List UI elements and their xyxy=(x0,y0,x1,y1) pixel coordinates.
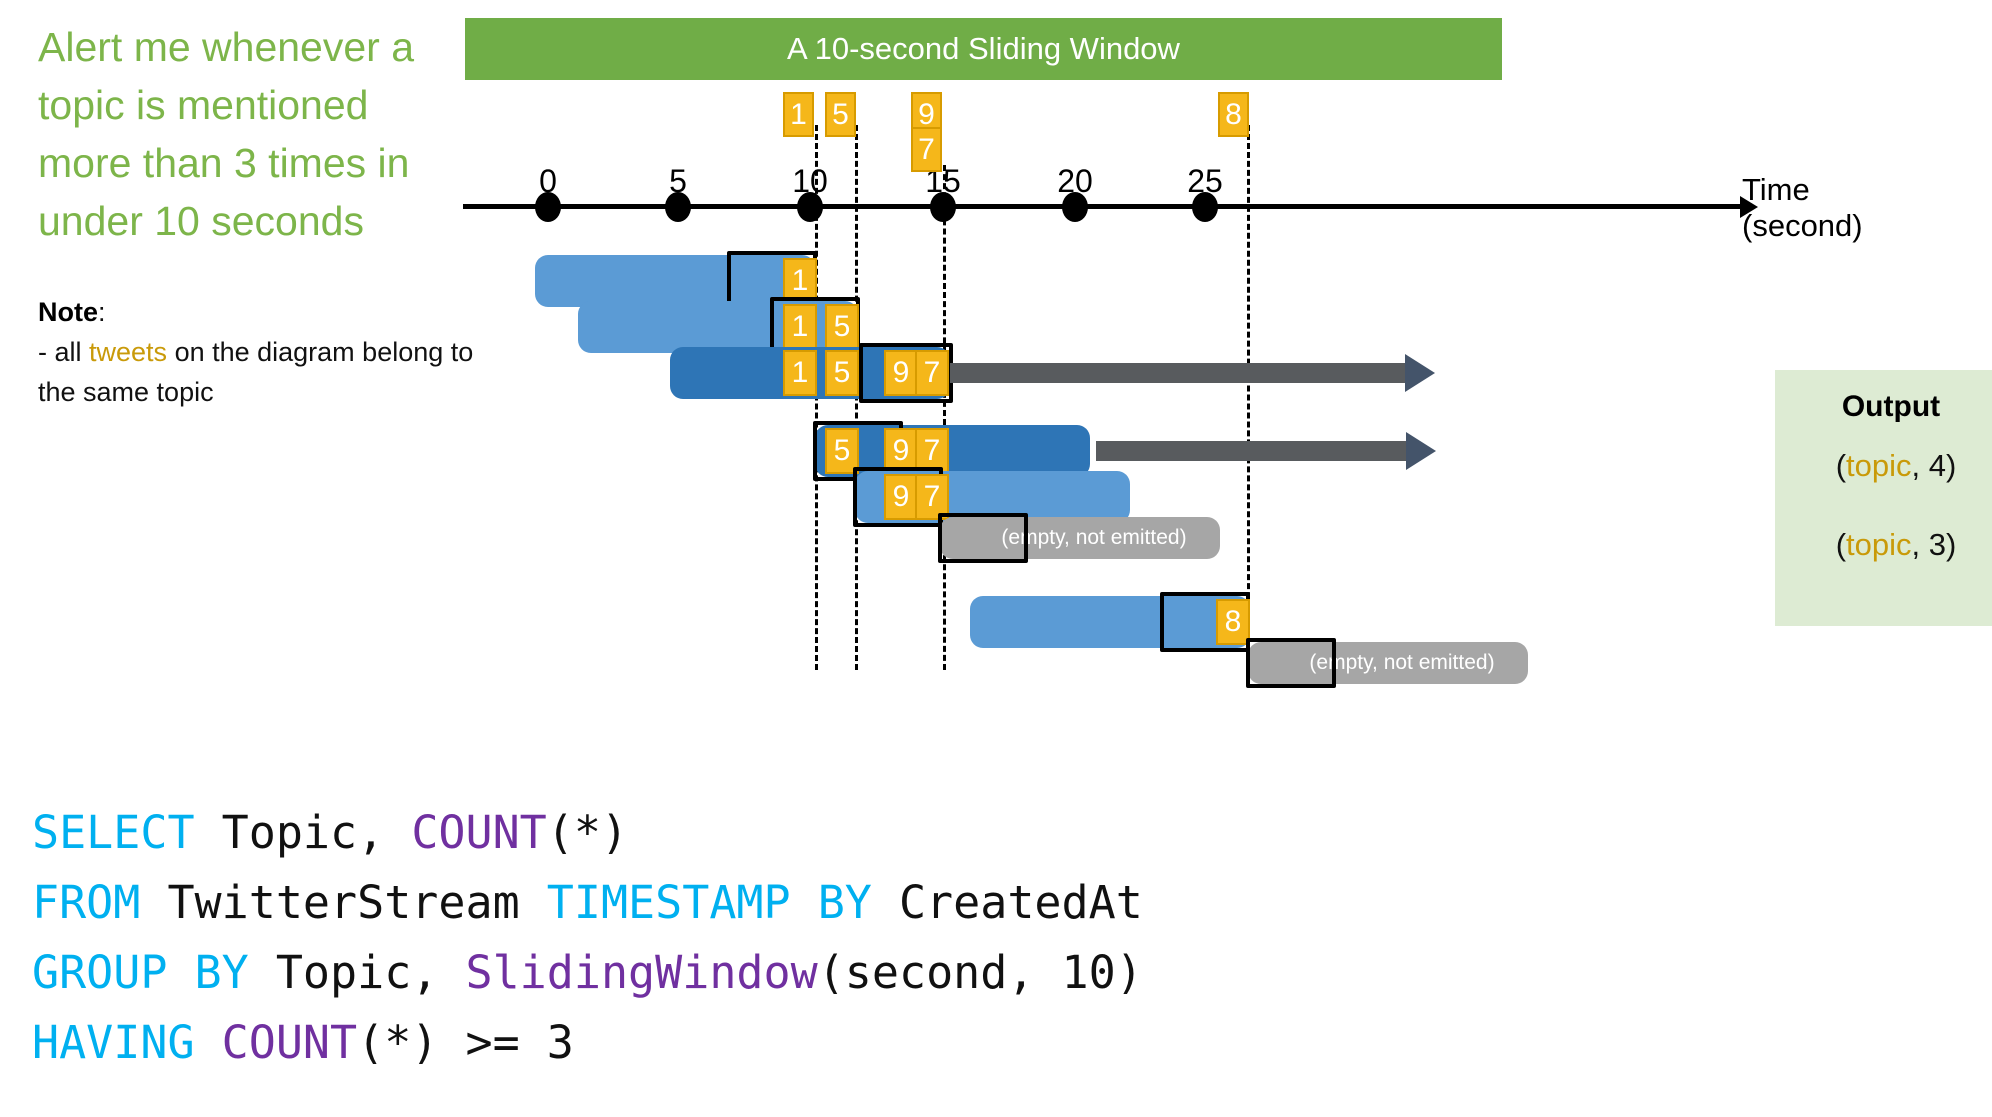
sql-line-4: HAVING COUNT(*) >= 3 xyxy=(32,1008,1392,1078)
window-3-tweet-5: 5 xyxy=(825,350,859,396)
axis-time-label: Time (second) xyxy=(1742,172,1863,244)
window-2-tweet-5: 5 xyxy=(825,304,859,350)
window-5-tweet-9: 9 xyxy=(884,474,918,520)
window-4-result-arrow-head-icon xyxy=(1406,432,1436,470)
sql-token: TIMESTAMP BY xyxy=(547,876,872,929)
sql-token: COUNT xyxy=(222,1016,357,1069)
window-3-tweet-7: 7 xyxy=(915,350,949,396)
note-heading: Note: xyxy=(38,292,478,332)
sql-token: Topic, xyxy=(249,946,466,999)
note-colon: : xyxy=(98,297,106,327)
tweet-badge-8: 8 xyxy=(1218,92,1249,137)
banner-title-text: A 10-second Sliding Window xyxy=(465,18,1502,80)
window-3-tweet-1: 1 xyxy=(783,350,817,396)
axis-unit-word: (second) xyxy=(1742,208,1863,244)
axis-tick-label: 10 xyxy=(775,163,845,200)
tweet-badge-7: 7 xyxy=(911,127,942,172)
sql-token xyxy=(195,1016,222,1069)
sql-line-3: GROUP BY Topic, SlidingWindow(second, 10… xyxy=(32,938,1392,1008)
output-paren-open: ( xyxy=(1836,448,1846,483)
slide-canvas: Alert me whenever a topic is mentioned m… xyxy=(0,0,1992,1117)
window-boundary-guide xyxy=(943,165,946,670)
axis-tick-label: 0 xyxy=(513,163,583,200)
output-count-token: , 4) xyxy=(1912,448,1957,483)
headline-text: Alert me whenever a topic is mentioned m… xyxy=(38,18,468,250)
output-topic-token: topic xyxy=(1846,448,1911,483)
window-boundary-guide xyxy=(1247,125,1250,670)
axis-tick-label: 25 xyxy=(1170,163,1240,200)
axis-time-word: Time xyxy=(1742,172,1863,208)
sql-token: CreatedAt xyxy=(872,876,1143,929)
note-highlight-tweets: tweets xyxy=(89,337,167,367)
sql-line-1: SELECT Topic, COUNT(*) xyxy=(32,798,1392,868)
window-4-result-arrow-shaft xyxy=(1096,441,1406,461)
tweet-badge-5: 5 xyxy=(825,92,856,137)
output-title: Output xyxy=(1801,390,1981,424)
axis-tick-label: 5 xyxy=(643,163,713,200)
output-count-token: , 3) xyxy=(1912,527,1957,562)
sql-token: SlidingWindow xyxy=(466,946,818,999)
sql-token: HAVING xyxy=(32,1016,195,1069)
time-axis-line xyxy=(463,204,1745,209)
note-body: - all tweets on the diagram belong to th… xyxy=(38,332,478,412)
sql-token: FROM xyxy=(32,876,140,929)
output-row-1: (topic, 4) xyxy=(1796,448,1992,484)
window-3-result-arrow-head-icon xyxy=(1405,354,1435,392)
output-topic-token: topic xyxy=(1846,527,1911,562)
window-3-tweet-9: 9 xyxy=(884,350,918,396)
window-3-result-arrow-shaft xyxy=(950,363,1405,383)
window-6-outline xyxy=(938,513,1028,563)
window-title-banner: A 10-second Sliding Window xyxy=(465,18,1502,80)
note-label: Note xyxy=(38,297,98,327)
note-prefix: - all xyxy=(38,337,89,367)
sql-token: SELECT xyxy=(32,806,195,859)
output-row-2: (topic, 3) xyxy=(1796,527,1992,563)
sql-token: (*) xyxy=(547,806,628,859)
tweet-badge-1: 1 xyxy=(783,92,814,137)
sql-token: COUNT xyxy=(411,806,546,859)
window-2-tweet-1: 1 xyxy=(783,304,817,350)
sql-token: (*) >= 3 xyxy=(357,1016,574,1069)
sql-token: Topic, xyxy=(195,806,412,859)
window-8-outline xyxy=(1246,638,1336,688)
output-paren-open: ( xyxy=(1836,527,1846,562)
window-7-tweet-8: 8 xyxy=(1216,599,1250,645)
sql-query-block: SELECT Topic, COUNT(*)FROM TwitterStream… xyxy=(32,798,1392,1078)
sql-token: TwitterStream xyxy=(140,876,546,929)
axis-tick-label: 20 xyxy=(1040,163,1110,200)
note-block: Note: - all tweets on the diagram belong… xyxy=(38,292,478,412)
sql-token: GROUP BY xyxy=(32,946,249,999)
sql-line-2: FROM TwitterStream TIMESTAMP BY CreatedA… xyxy=(32,868,1392,938)
sql-token: (second, 10) xyxy=(818,946,1143,999)
